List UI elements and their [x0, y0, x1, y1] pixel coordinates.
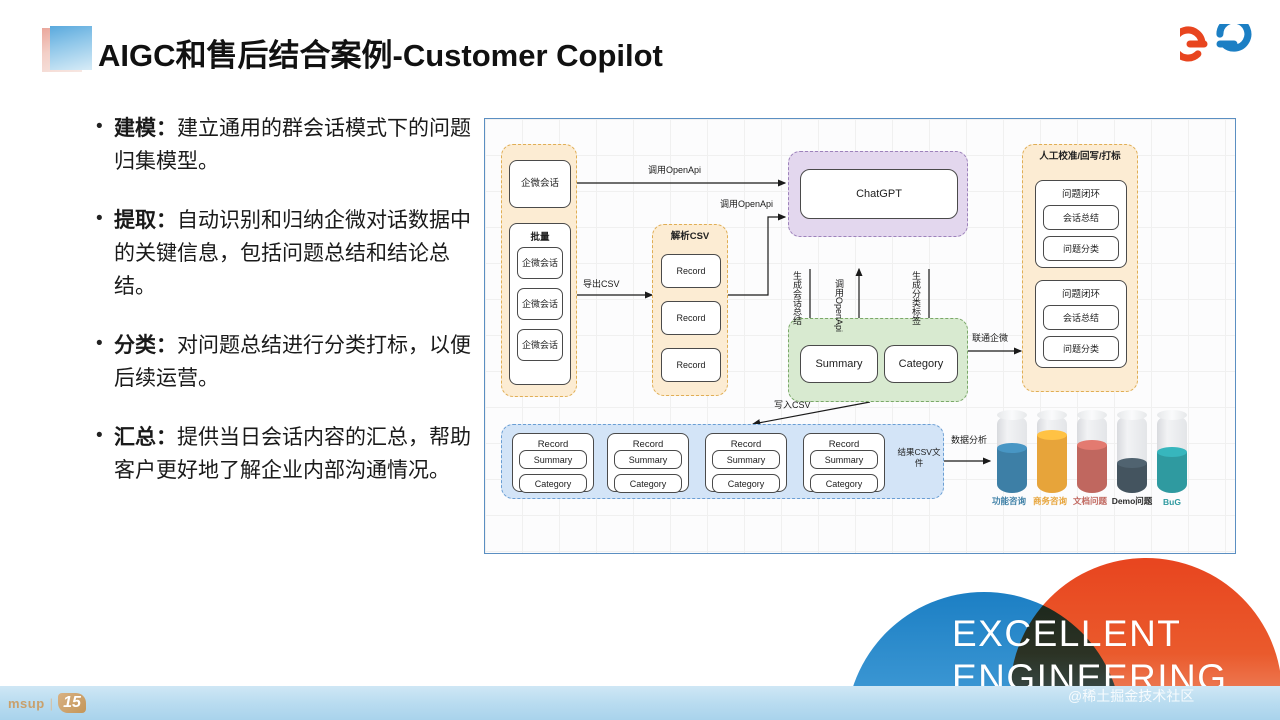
bullet-marker: • — [92, 112, 114, 178]
edge-label-link-qiwei: 联通企微 — [972, 333, 1008, 344]
node-result-category-1[interactable]: Category — [519, 474, 587, 493]
list-item: • 汇总：提供当日会话内容的汇总，帮助客户更好地了解企业内部沟通情况。 — [92, 421, 487, 487]
bullet-content: 汇总：提供当日会话内容的汇总，帮助客户更好地了解企业内部沟通情况。 — [114, 421, 487, 487]
edge-label-generate-category: 生成分类标签 — [911, 271, 921, 343]
node-batch-session-2[interactable]: 企微会话 — [517, 288, 563, 320]
list-item: • 建模：建立通用的群会话模式下的问题归集模型。 — [92, 112, 487, 178]
node-result-summary-1[interactable]: Summary — [519, 450, 587, 469]
brand-line-1: EXCELLENT — [952, 612, 1228, 656]
bar-3-cap — [1117, 410, 1147, 420]
title-accent-decoration — [42, 26, 92, 78]
data-analysis-chart: 功能咨询 商务咨询 文档问题 Demo问题 BuG — [989, 399, 1199, 507]
edge-label-write-csv: 写入CSV — [774, 400, 811, 411]
bar-0 — [997, 415, 1027, 493]
bar-2-fill — [1077, 445, 1107, 493]
bullet-marker: • — [92, 329, 114, 395]
edge-label-export-csv: 导出CSV — [583, 279, 620, 290]
bar-1 — [1037, 415, 1067, 493]
group-result-csv: Record Summary Category Record Summary C… — [501, 424, 944, 499]
bar-3-fill — [1117, 463, 1147, 493]
bar-2-cap — [1077, 410, 1107, 420]
label-result-csv-file: 结果CSV文件 — [894, 447, 944, 469]
bar-0-fill — [997, 448, 1027, 493]
group-parse-csv-title: 解析CSV — [653, 231, 727, 243]
bullet-content: 提取：自动识别和归纳企微对话数据中的关键信息，包括问题总结和结论总结。 — [114, 204, 487, 303]
footer-separator: | — [50, 696, 53, 711]
bullet-lead: 提取： — [114, 209, 177, 232]
node-batch-session-1[interactable]: 企微会话 — [517, 247, 563, 279]
node-record-3[interactable]: Record — [661, 348, 721, 382]
edge-label-data-analysis: 数据分析 — [951, 435, 987, 446]
bullet-marker: • — [92, 204, 114, 303]
group-manual-review-title: 人工校准/回写/打标 — [1023, 151, 1137, 163]
node-record-1[interactable]: Record — [661, 254, 721, 288]
node-qiwei-session[interactable]: 企微会话 — [509, 160, 571, 208]
accent-square-front — [50, 26, 92, 70]
bar-3 — [1117, 415, 1147, 493]
edge-label-open-api-mid: 调用OpenApi — [720, 199, 773, 210]
node-record-2[interactable]: Record — [661, 301, 721, 335]
node-session-summary-2[interactable]: 会话总结 — [1043, 305, 1119, 330]
bar-4 — [1157, 415, 1187, 493]
bar-2 — [1077, 415, 1107, 493]
node-chatgpt[interactable]: ChatGPT — [800, 169, 958, 219]
node-result-summary-4[interactable]: Summary — [810, 450, 878, 469]
bullet-lead: 分类： — [114, 334, 177, 357]
node-batch-session-3[interactable]: 企微会话 — [517, 329, 563, 361]
node-issue-category-1[interactable]: 问题分类 — [1043, 236, 1119, 261]
node-result-summary-2[interactable]: Summary — [614, 450, 682, 469]
edge-label-open-api-top: 调用OpenApi — [648, 165, 701, 176]
bullet-marker: • — [92, 421, 114, 487]
node-result-category-4[interactable]: Category — [810, 474, 878, 493]
bullet-lead: 汇总： — [114, 426, 177, 449]
node-issue-category-2[interactable]: 问题分类 — [1043, 336, 1119, 361]
list-item: • 分类：对问题总结进行分类打标，以便后续运营。 — [92, 329, 487, 395]
footer-msup-label: msup — [8, 696, 45, 711]
watermark-text: @稀土掘金技术社区 — [1068, 686, 1194, 706]
footer-logo: msup | 15 — [8, 692, 86, 714]
list-item: • 提取：自动识别和归纳企微对话数据中的关键信息，包括问题总结和结论总结。 — [92, 204, 487, 303]
edge-label-call-openapi-up: 调用OpenApi — [834, 279, 844, 341]
ee-logo-icon — [1180, 24, 1252, 64]
node-summary[interactable]: Summary — [800, 345, 878, 383]
card-issue-loop-1-title: 问题闭环 — [1062, 189, 1100, 201]
bullet-content: 建模：建立通用的群会话模式下的问题归集模型。 — [114, 112, 487, 178]
node-result-category-3[interactable]: Category — [712, 474, 780, 493]
node-category[interactable]: Category — [884, 345, 958, 383]
slide-root: AIGC和售后结合案例-Customer Copilot • 建模：建立通用的群… — [0, 0, 1280, 720]
footer-anniversary-badge: 15 — [58, 693, 86, 713]
node-result-category-2[interactable]: Category — [614, 474, 682, 493]
group-qiwei-source: 企微会话 批量 企微会话 企微会话 企微会话 — [501, 144, 577, 397]
bullet-list: • 建模：建立通用的群会话模式下的问题归集模型。 • 提取：自动识别和归纳企微对… — [92, 112, 487, 513]
bar-1-fill — [1037, 435, 1067, 493]
card-issue-loop-2-title: 问题闭环 — [1062, 289, 1100, 301]
bar-0-cap — [997, 410, 1027, 420]
group-manual-review: 人工校准/回写/打标 问题闭环 会话总结 问题分类 问题闭环 会话总结 问题分类 — [1022, 144, 1138, 392]
bar-1-cap — [1037, 410, 1067, 420]
architecture-diagram: 企微会话 批量 企微会话 企微会话 企微会话 解析CSV Record Reco… — [484, 118, 1236, 554]
node-result-summary-3[interactable]: Summary — [712, 450, 780, 469]
group-parse-csv: 解析CSV Record Record Record — [652, 224, 728, 396]
edge-label-generate-summary: 生成会话总结 — [792, 271, 802, 343]
node-batch-label: 批量 — [530, 232, 549, 244]
bullet-content: 分类：对问题总结进行分类打标，以便后续运营。 — [114, 329, 487, 395]
bar-4-fill — [1157, 452, 1187, 493]
group-chatgpt: ChatGPT — [788, 151, 968, 237]
bar-4-cap — [1157, 410, 1187, 420]
node-session-summary-1[interactable]: 会话总结 — [1043, 205, 1119, 230]
bullet-lead: 建模： — [114, 117, 177, 140]
group-model-output: Summary Category — [788, 318, 968, 402]
page-title: AIGC和售后结合案例-Customer Copilot — [98, 30, 663, 75]
